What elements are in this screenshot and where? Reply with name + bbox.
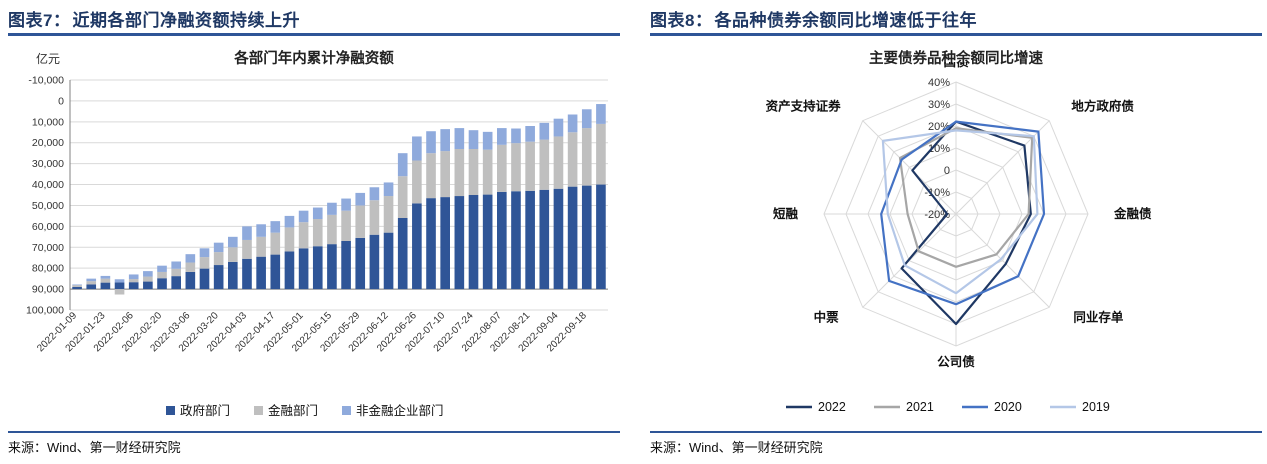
bar-segment (157, 272, 167, 278)
bar-segment (568, 115, 578, 133)
radar-radial-tick: 40% (928, 77, 950, 89)
bar-series-group (72, 104, 605, 294)
bar-segment (355, 205, 365, 237)
legend-label: 2022 (818, 400, 846, 414)
figure-7-source: 来源：Wind、第一财经研究院 (8, 431, 620, 456)
bar-segment (228, 247, 238, 262)
figure-7-label: 图表7： (8, 6, 70, 31)
bar-segment (440, 197, 450, 289)
bar-segment (525, 126, 535, 142)
y-axis-tick: -10,000 (28, 75, 64, 87)
legend-label: 2021 (906, 400, 934, 414)
bar-segment (483, 132, 493, 150)
bar-segment (157, 266, 167, 272)
bar-segment (186, 254, 196, 262)
bar-segment (497, 128, 507, 145)
legend-label: 非金融企业部门 (356, 403, 444, 418)
figure-8-source: 来源：Wind、第一财经研究院 (650, 431, 1262, 456)
bar-segment (539, 140, 549, 190)
bar-segment (299, 222, 309, 248)
bar-segment (455, 128, 465, 149)
bar-segment (596, 185, 606, 290)
figure-8-label: 图表8： (650, 6, 712, 31)
bar-segment (426, 131, 436, 153)
bar-segment (256, 257, 266, 289)
y-axis-tick: 60,000 (32, 221, 64, 233)
bar-segment (200, 269, 210, 289)
radar-axis-label: 地方政府债 (1071, 99, 1134, 114)
bar-segment (72, 285, 82, 287)
bar-segment (426, 153, 436, 198)
y-axis-tick: 70,000 (32, 242, 64, 254)
y-axis-tick: 30,000 (32, 158, 64, 170)
bar-segment (72, 287, 82, 289)
bar-segment (299, 248, 309, 289)
bar-segment (582, 109, 592, 128)
bar-segment (101, 279, 111, 283)
bar-segment (455, 196, 465, 289)
figure-8-heading: 图表8： 各品种债券余额同比增速低于往年 (650, 0, 1262, 31)
radar-axis-label: 公司债 (937, 354, 975, 369)
bar-segment (596, 124, 606, 185)
bar-segment (228, 237, 238, 247)
bar-segment (398, 176, 408, 218)
y-axis-tick: 90,000 (32, 284, 64, 296)
radar-axis-label: 同业存单 (1073, 309, 1124, 324)
bar-segment (554, 189, 564, 289)
y-axis-tick: 10,000 (32, 116, 64, 128)
legend-swatch (342, 406, 351, 415)
bar-segment (313, 246, 323, 289)
bar-segment (270, 221, 280, 233)
bar-segment (539, 190, 549, 289)
bar-segment (86, 281, 96, 284)
bar-segment (214, 265, 224, 289)
legend-label: 政府部门 (180, 403, 230, 418)
bar-segment (327, 244, 337, 289)
bar-segment (469, 130, 479, 149)
figure-7-heading: 图表7： 近期各部门净融资额持续上升 (8, 0, 620, 31)
bar-segment (143, 282, 153, 290)
bar-segment (115, 282, 125, 289)
bar-segment (412, 161, 422, 204)
bar-segment (285, 216, 295, 228)
bar-segment (143, 277, 153, 282)
chart-7-legend: 政府部门金融部门非金融企业部门 (8, 400, 620, 424)
bar-segment (370, 200, 380, 235)
bar-segment (341, 199, 351, 211)
bar-segment (511, 129, 521, 144)
y-axis-tick: 40,000 (32, 179, 64, 191)
bar-segment (242, 226, 252, 240)
bar-segment (398, 153, 408, 176)
chart-8-legend: 2022202120202019 (650, 396, 1262, 420)
figure-8-title-rule (650, 33, 1262, 36)
bar-segment (200, 257, 210, 269)
y-axis-tick: 50,000 (32, 200, 64, 212)
bar-segment (228, 262, 238, 289)
bar-segment (214, 252, 224, 265)
legend-label: 金融部门 (268, 403, 318, 418)
bar-segment (143, 271, 153, 276)
bar-segment (171, 261, 181, 268)
bar-segment (582, 186, 592, 290)
bar-segment (313, 208, 323, 220)
bar-segment (186, 263, 196, 272)
radar-axis-label: 短融 (773, 206, 799, 221)
radar-axis-label: 中票 (814, 309, 840, 324)
bar-segment (285, 251, 295, 289)
bar-segment (440, 151, 450, 197)
bar-segment (72, 284, 82, 285)
radar-chart: -20%-10%010%20%30%40%国债地方政府债金融债同业存单公司债中票… (650, 62, 1262, 392)
bar-segment (384, 182, 394, 196)
bar-segment (455, 149, 465, 196)
bar-segment (370, 235, 380, 289)
legend-label: 2019 (1082, 400, 1110, 414)
bar-segment (539, 123, 549, 140)
chart-7-yaxis-unit: 亿元 (36, 50, 60, 67)
bar-segment (171, 269, 181, 276)
bar-segment (511, 191, 521, 289)
bar-segment (511, 143, 521, 191)
radar-axis-label: 国债 (943, 62, 969, 69)
bar-segment (497, 145, 507, 192)
bar-segment (483, 195, 493, 290)
bar-segment (426, 198, 436, 289)
bar-segment (525, 191, 535, 289)
bar-segment (469, 149, 479, 195)
panel-figure-7: 图表7： 近期各部门净融资额持续上升 各部门年内累计净融资额 亿元 100,00… (8, 0, 620, 464)
bar-segment (186, 272, 196, 289)
bar-segment (214, 243, 224, 252)
bar-segment (86, 284, 96, 289)
y-axis-tick: 80,000 (32, 263, 64, 275)
bar-segment (129, 282, 139, 289)
bar-segment (568, 132, 578, 186)
chart-7-title: 各部门年内累计净融资额 (8, 47, 620, 68)
bar-segment (256, 224, 266, 237)
bar-segment (355, 238, 365, 289)
bar-segment (299, 211, 309, 223)
radar-radial-tick: 30% (928, 99, 950, 111)
bar-segment (582, 128, 592, 186)
legend-swatch (166, 406, 175, 415)
y-axis-tick: 20,000 (32, 137, 64, 149)
bar-segment (341, 211, 351, 241)
radar-axis-label: 资产支持证券 (766, 99, 842, 114)
bar-segment (115, 289, 125, 294)
legend-label: 2020 (994, 400, 1022, 414)
bar-segment (355, 193, 365, 206)
page-root: 图表7： 近期各部门净融资额持续上升 各部门年内累计净融资额 亿元 100,00… (0, 0, 1267, 464)
bar-segment (242, 259, 252, 289)
panel-figure-8: 图表8： 各品种债券余额同比增速低于往年 主要债券品种余额同比增速 -20%-1… (650, 0, 1262, 464)
figure-8-title: 各品种债券余额同比增速低于往年 (714, 6, 977, 31)
bar-segment (313, 219, 323, 246)
bar-segment (384, 233, 394, 289)
bar-segment (554, 119, 564, 137)
bar-segment (86, 279, 96, 282)
bar-segment (129, 274, 139, 279)
y-axis-tick: 100,000 (26, 305, 64, 317)
bar-segment (270, 233, 280, 255)
bar-segment (568, 187, 578, 289)
bar-segment (101, 283, 111, 289)
bar-segment (384, 196, 394, 233)
bar-segment (171, 276, 181, 289)
bar-segment (440, 129, 450, 151)
bar-segment (327, 215, 337, 244)
bar-segment (327, 203, 337, 215)
bar-segment (483, 150, 493, 195)
bar-segment (101, 276, 111, 279)
bar-segment (285, 227, 295, 251)
figure-7-title: 近期各部门净融资额持续上升 (72, 6, 300, 31)
stacked-bar-chart: 100,00090,00080,00070,00060,00050,00040,… (8, 70, 620, 410)
bar-segment (270, 255, 280, 290)
radar-radial-tick: 0 (944, 165, 950, 177)
bar-segment (341, 241, 351, 289)
bar-segment (129, 279, 139, 282)
bar-segment (497, 192, 507, 289)
bar-segment (370, 187, 380, 200)
radar-spoke (956, 214, 1049, 307)
bar-segment (554, 136, 564, 188)
bar-segment (469, 195, 479, 289)
bar-segment (596, 104, 606, 124)
bar-segment (242, 240, 252, 259)
bar-segment (398, 218, 408, 289)
bar-segment (200, 248, 210, 257)
bar-segment (525, 142, 535, 191)
figure-7-title-rule (8, 33, 620, 36)
bar-segment (157, 278, 167, 289)
bar-segment (412, 203, 422, 289)
bar-segment (412, 136, 422, 160)
legend-swatch (254, 406, 263, 415)
bar-segment (115, 279, 125, 282)
radar-axis-label: 金融债 (1113, 206, 1152, 221)
bar-segment (256, 237, 266, 257)
y-axis-tick: 0 (58, 95, 64, 107)
